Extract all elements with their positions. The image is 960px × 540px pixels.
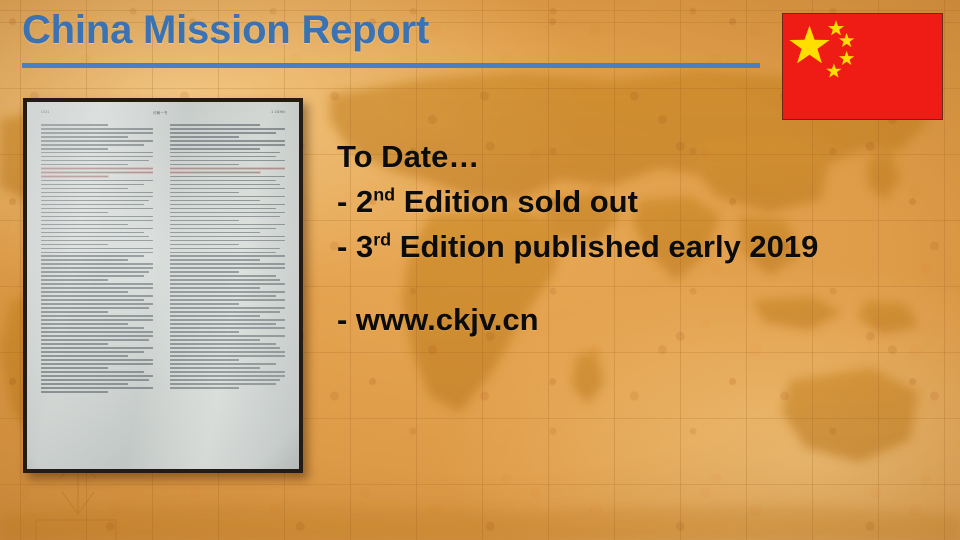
bullet-text-2: Edition published early 2019 — [391, 229, 818, 264]
bullet-dash-2: - — [337, 229, 356, 264]
page-book-english: 1 JOHN — [271, 110, 285, 117]
page-number: 1031 — [41, 110, 50, 117]
bullet-number-2: 3 — [356, 229, 373, 264]
bible-page-photo: 1031 约翰一书 1 JOHN — [23, 98, 303, 473]
bullet-number-1: 2 — [356, 184, 373, 219]
body-text-block: To Date… - 2nd Edition sold out - 3rd Ed… — [337, 134, 937, 342]
slide-title: China Mission Report — [22, 8, 429, 53]
body-spacer-line — [337, 269, 937, 297]
china-flag-image — [782, 13, 943, 120]
english-text-column — [41, 124, 153, 453]
bullet-dash-1: - — [337, 184, 356, 219]
photo-content: 1031 约翰一书 1 JOHN — [27, 102, 299, 469]
chinese-text-column — [170, 124, 285, 453]
bullet-text-1: Edition sold out — [395, 184, 638, 219]
bullet-item-2: - 3rd Edition published early 2019 — [337, 224, 937, 269]
bullet-item-1: - 2nd Edition sold out — [337, 179, 937, 224]
body-heading: To Date… — [337, 134, 937, 179]
bullet-ordinal-2: rd — [373, 230, 391, 250]
bullet-ordinal-1: nd — [373, 185, 395, 205]
page-book-chinese: 约翰一书 — [153, 110, 167, 117]
website-line[interactable]: - www.ckjv.cn — [337, 297, 937, 342]
title-underline-rule — [22, 63, 760, 68]
page-header: 1031 约翰一书 1 JOHN — [41, 110, 285, 117]
slide-canvas: China Mission Report 1031 约翰一书 1 JOHN — [0, 0, 960, 540]
